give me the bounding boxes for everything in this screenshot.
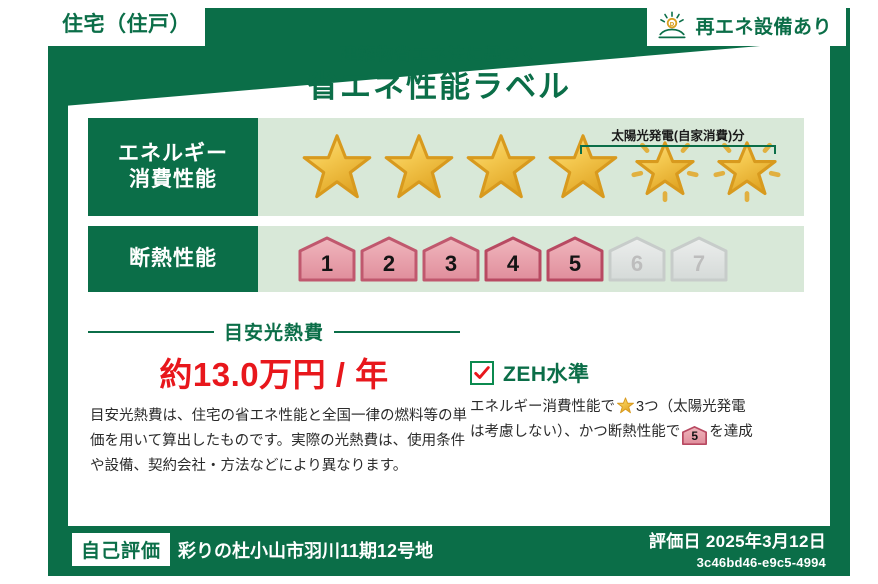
cost-heading-text: 目安光熱費 xyxy=(224,318,324,345)
insulation-grade-badge: 7 xyxy=(670,236,728,282)
insulation-grade-badge: 5 xyxy=(546,236,604,282)
star-rating: 太陽光発電(自家消費)分 xyxy=(258,128,804,206)
svg-text:D: D xyxy=(670,22,675,28)
property-name: 彩りの杜小山市羽川11期12号地 xyxy=(178,537,433,563)
evaluation-id: 3c46bd46-e9c5-4994 xyxy=(649,555,826,570)
title-block: 建築物省エネ法に基づく 省エネ性能ラベル xyxy=(0,44,878,107)
zeh-section: ZEH水準 エネルギー消費性能で3つ（太陽光発電は考慮しない）、かつ断熱性能で5… xyxy=(470,358,810,445)
solar-sun-icon: D xyxy=(657,10,687,40)
energy-performance-label: エネルギー 消費性能 xyxy=(88,118,258,216)
energy-performance-label: 住宅（住戸） D 再エネ設備あり 建築物省エネ法に基づく 省エネ性能ラベル xyxy=(0,0,878,584)
insulation-grade-value: 1 xyxy=(321,253,333,282)
cost-heading: 目安光熱費 xyxy=(88,318,460,345)
star-inline-icon xyxy=(616,396,635,415)
insulation-grade-inline-icon: 5 xyxy=(682,426,707,445)
cost-note: 目安光熱費は、住宅の省エネ性能と全国一律の燃料等の単価を用いて算出したものです。… xyxy=(90,404,468,479)
title-subtitle: 建築物省エネ法に基づく xyxy=(0,44,878,66)
insulation-label-text: 断熱性能 xyxy=(129,246,217,272)
zeh-heading: ZEH水準 xyxy=(470,358,810,388)
renewable-equipment-badge: D 再エネ設備あり xyxy=(647,4,846,46)
zeh-desc-part2: は考慮しない）、かつ断熱性能で xyxy=(470,424,680,440)
insulation-grade-badge: 4 xyxy=(484,236,542,282)
performance-rows: エネルギー 消費性能 xyxy=(88,118,804,302)
zeh-desc-star-count: 3つ（太陽光発電 xyxy=(636,399,746,415)
evaluation-meta: 評価日 2025年3月12日 3c46bd46-e9c5-4994 xyxy=(649,527,826,570)
evaluation-type-badge: 自己評価 xyxy=(72,533,170,566)
insulation-grade-value: 4 xyxy=(507,253,519,282)
energy-performance-body: 太陽光発電(自家消費)分 xyxy=(258,118,804,216)
evaluation-footer: 自己評価 彩りの杜小山市羽川11期12号地 xyxy=(72,533,433,566)
solar-annotation-bracket xyxy=(580,145,776,154)
cost-value: 約13.0万円 / 年 xyxy=(88,348,460,396)
insulation-grade-badge: 2 xyxy=(360,236,418,282)
energy-label-line2: 消費性能 xyxy=(129,167,217,193)
insulation-performance-row: 断熱性能 xyxy=(88,226,804,292)
star-filled xyxy=(298,128,376,206)
zeh-desc-part1: エネルギー消費性能で xyxy=(470,399,615,415)
star-filled xyxy=(380,128,458,206)
zeh-title: ZEH水準 xyxy=(503,358,590,388)
check-icon xyxy=(473,364,491,382)
insulation-grade-scale: 1 2 3 xyxy=(258,236,728,282)
checkbox-checked[interactable] xyxy=(470,361,494,385)
solar-annotation: 太陽光発電(自家消費)分 xyxy=(580,130,776,154)
insulation-performance-label: 断熱性能 xyxy=(88,226,258,292)
energy-performance-row: エネルギー 消費性能 xyxy=(88,118,804,216)
renewable-badge-label: 再エネ設備あり xyxy=(695,12,832,39)
insulation-grade-value: 7 xyxy=(693,253,705,282)
insulation-performance-body: 1 2 3 xyxy=(258,226,804,292)
evaluation-date: 評価日 2025年3月12日 xyxy=(649,527,826,552)
insulation-grade-value: 3 xyxy=(445,253,457,282)
energy-label-line1: エネルギー xyxy=(118,141,228,167)
dwelling-type-tag: 住宅（住戸） xyxy=(48,0,205,46)
star-filled xyxy=(462,128,540,206)
cost-rule-left xyxy=(88,331,214,333)
insulation-grade-badge: 6 xyxy=(608,236,666,282)
insulation-grade-badge: 3 xyxy=(422,236,480,282)
zeh-desc-part3: を達成 xyxy=(709,424,753,440)
cost-rule-right xyxy=(334,331,460,333)
page-title: 省エネ性能ラベル xyxy=(0,68,878,107)
insulation-grade-value: 5 xyxy=(569,253,581,282)
zeh-description: エネルギー消費性能で3つ（太陽光発電は考慮しない）、かつ断熱性能で5を達成 xyxy=(470,395,810,445)
zeh-desc-badge-value: 5 xyxy=(682,426,707,447)
solar-annotation-text: 太陽光発電(自家消費)分 xyxy=(580,130,776,144)
insulation-grade-value: 6 xyxy=(631,253,643,282)
insulation-grade-value: 2 xyxy=(383,253,395,282)
insulation-grade-badge: 1 xyxy=(298,236,356,282)
